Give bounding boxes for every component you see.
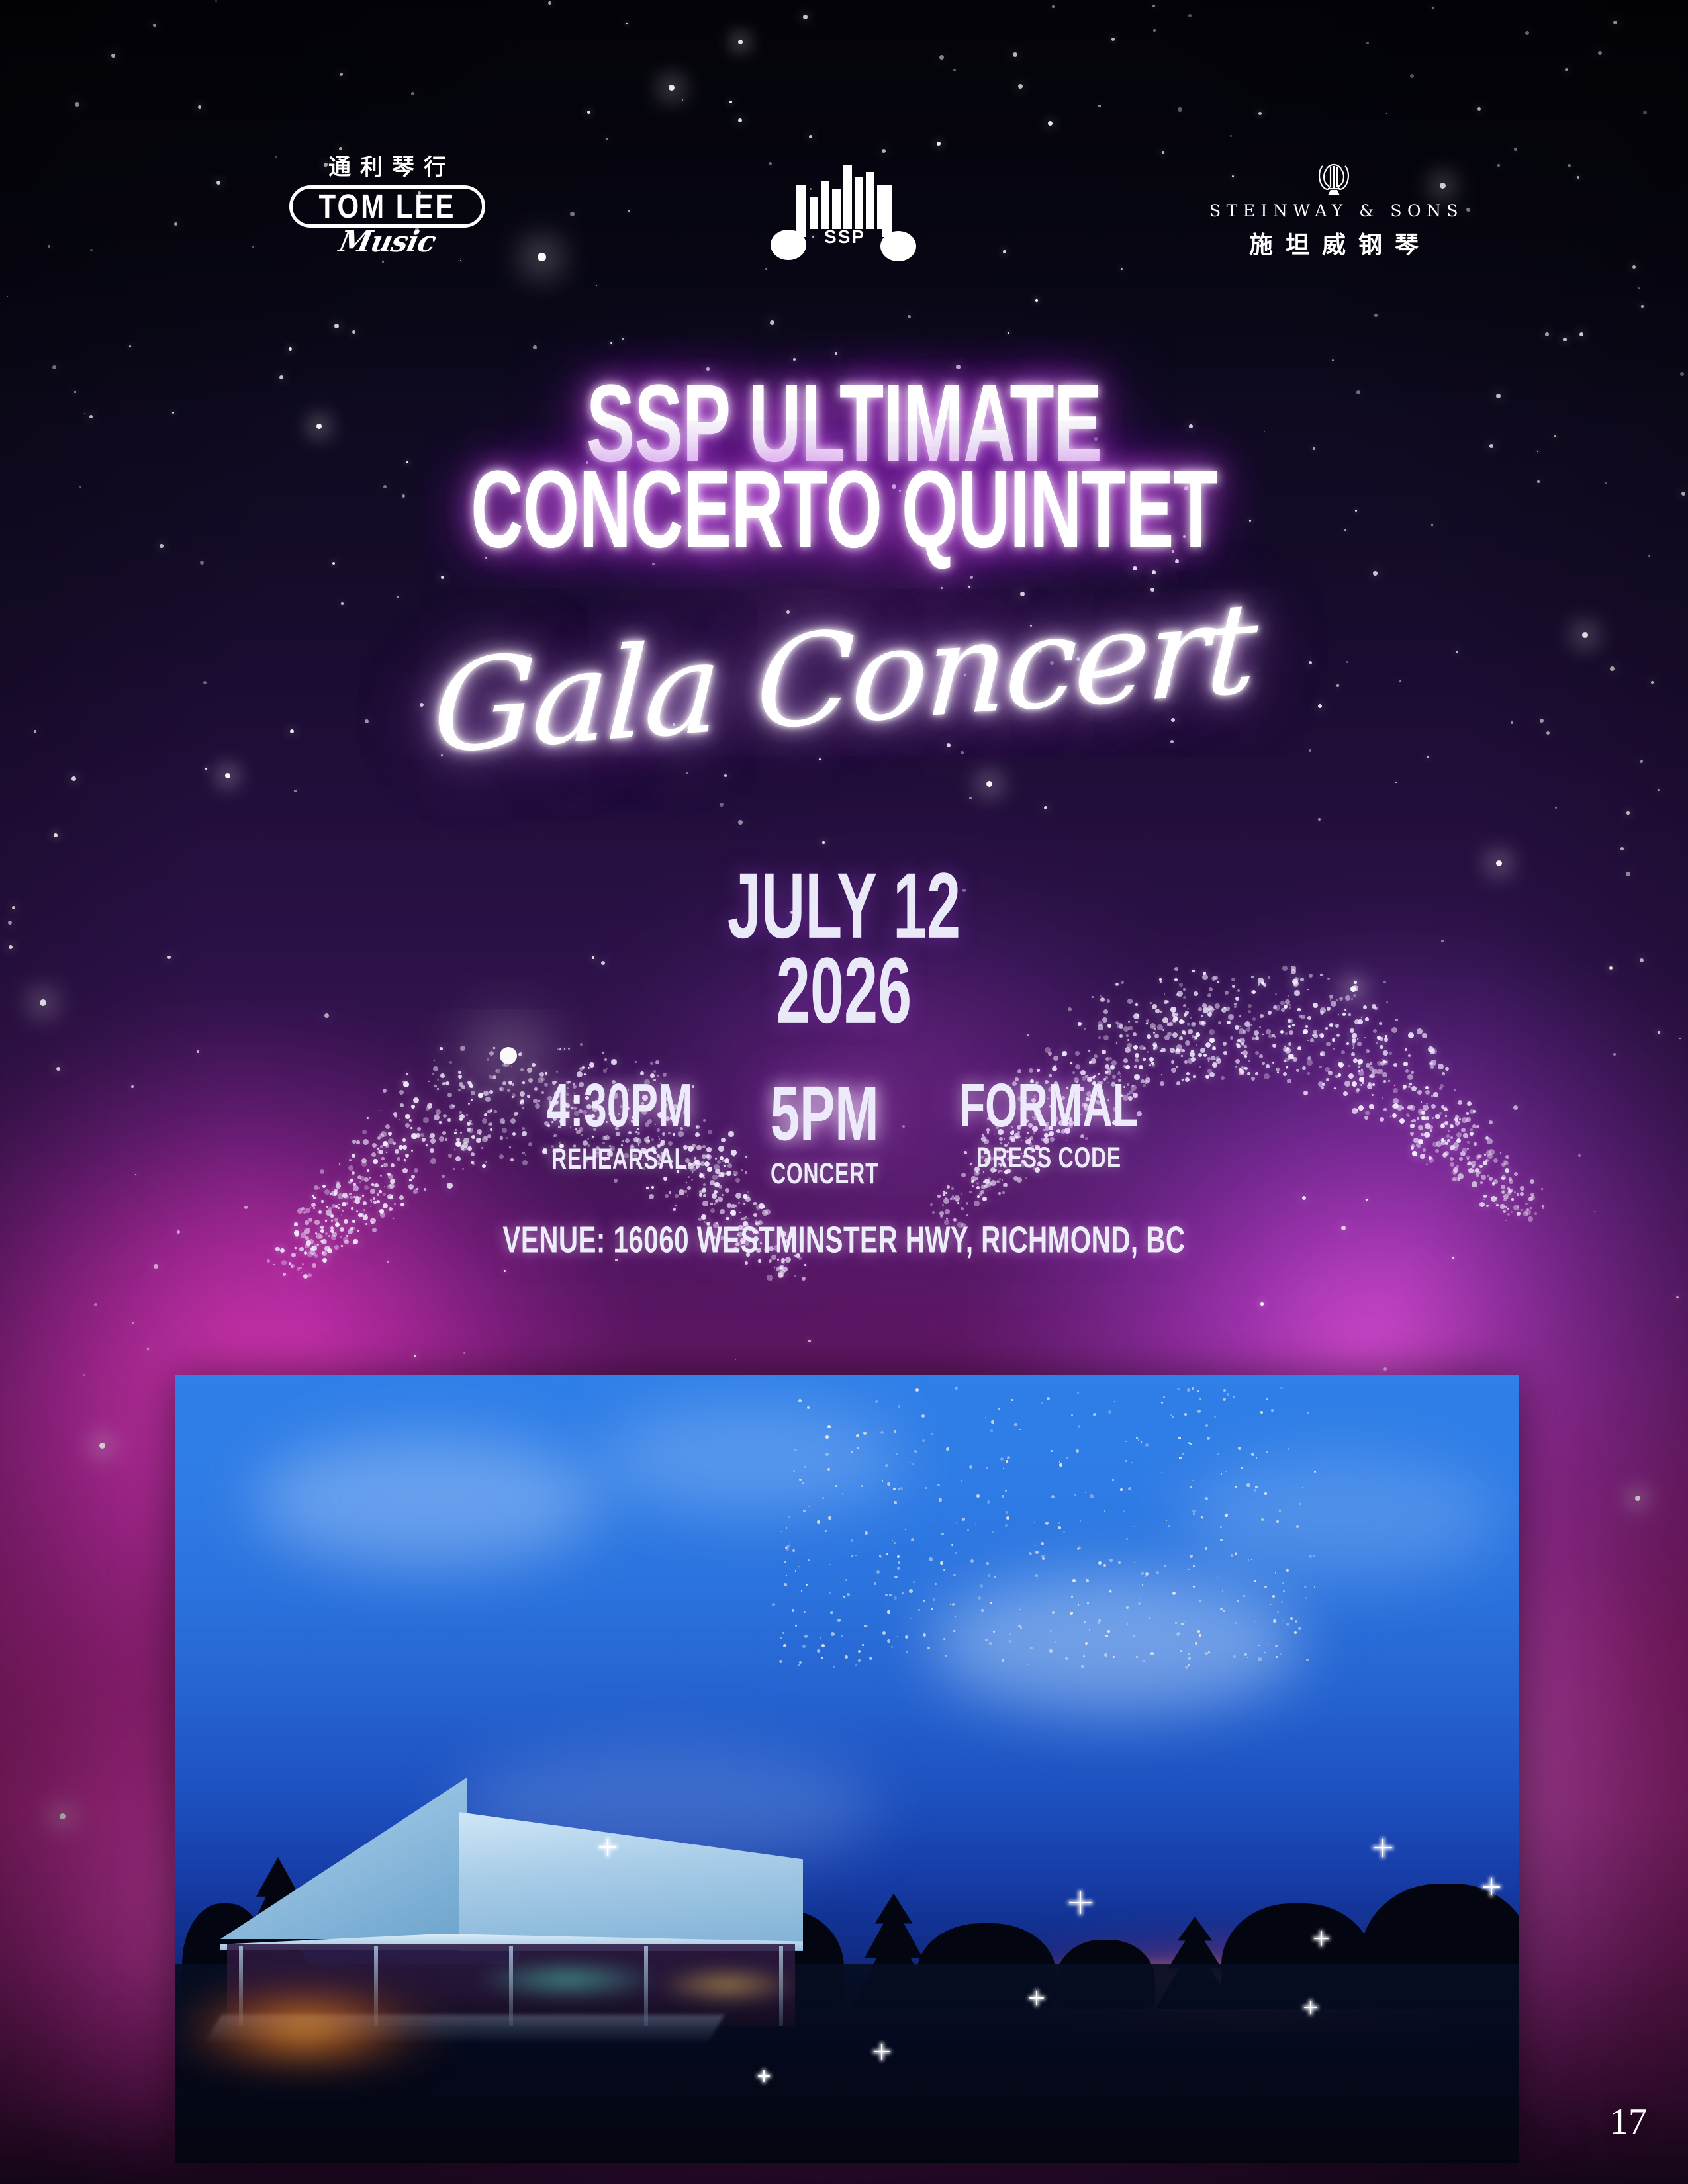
steinway-wordmark: STEINWAY & SONS [1178, 201, 1489, 220]
tom-lee-script-word: Music [275, 225, 500, 259]
tom-lee-wordmark-pill: TOM LEE [289, 185, 485, 228]
venue-line: VENUE: 16060 WESTMINSTER HWY, RICHMOND, … [118, 1218, 1570, 1261]
poster-title: SSP ULTIMATE CONCERTO QUINTET [0, 371, 1688, 539]
tent-warm-path-light [181, 1951, 525, 2077]
concert-label: CONCERT [769, 1159, 881, 1188]
title-line-2: CONCERTO QUINTET [118, 457, 1570, 563]
rehearsal-label: REHEARSAL [543, 1144, 695, 1173]
schedule-row: 4:30PM REHEARSAL 5PM CONCERT FORMAL DRES… [0, 1075, 1688, 1183]
sponsor-logos: 通利琴行 TOM LEE Music [0, 156, 1688, 282]
schedule-item-dress-code: FORMAL DRESS CODE [941, 1075, 1156, 1167]
outdoor-event-tent-photo [175, 1375, 1519, 2163]
event-date-year: 2026 [152, 947, 1536, 1036]
steinway-and-sons-logo: STEINWAY & SONS 施坦威钢琴 [1178, 159, 1489, 260]
ssp-wordmark: SSP [769, 226, 921, 248]
tom-lee-chinese-name: 通利琴行 [278, 156, 496, 179]
schedule-item-rehearsal: 4:30PM REHEARSAL [532, 1075, 708, 1169]
page-number: 17 [1610, 2103, 1647, 2140]
ssp-logo: SSP [769, 147, 921, 266]
event-date: JULY 12 2026 [0, 871, 1688, 1026]
concert-poster: 通利琴行 TOM LEE Music [0, 0, 1688, 2184]
photo-stardust [771, 1382, 1314, 1666]
schedule-item-concert: 5PM CONCERT [759, 1075, 890, 1183]
photo-cloud [255, 1435, 599, 1567]
lyre-icon [1178, 159, 1489, 197]
tent-roof-right [459, 1812, 803, 1951]
event-date-day: JULY 12 [152, 862, 1536, 950]
concert-time: 5PM [771, 1075, 879, 1153]
tent-stage-light-amber [644, 1963, 810, 2007]
tom-lee-music-logo: 通利琴行 TOM LEE Music [278, 156, 496, 259]
dress-code-label: DRESS CODE [957, 1143, 1142, 1172]
piano-keys-music-note-icon [769, 147, 921, 266]
tom-lee-wordmark: TOM LEE [319, 189, 456, 223]
tent-roof-left [220, 1778, 467, 1939]
rehearsal-time: 4:30PM [546, 1075, 692, 1137]
steinway-chinese-name: 施坦威钢琴 [1178, 226, 1489, 260]
event-tent [220, 1772, 803, 2050]
dress-code-value: FORMAL [960, 1075, 1139, 1137]
